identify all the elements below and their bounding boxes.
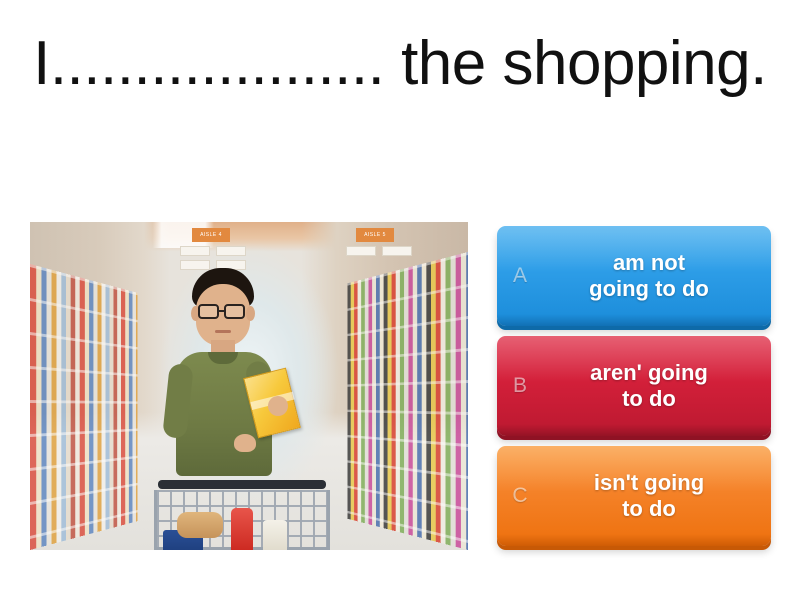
aisle-sign-icon: AISLE 4 — [192, 228, 230, 242]
shopping-cart — [154, 480, 330, 550]
cart-basket — [154, 490, 330, 550]
answer-option-b[interactable]: B aren' going to do — [497, 336, 771, 436]
option-text-a: am not going to do — [543, 250, 771, 302]
shopper-figure — [158, 268, 308, 512]
mouth — [215, 330, 231, 333]
shelf-tag — [216, 246, 246, 256]
cart-item — [231, 508, 253, 550]
cart-item — [177, 512, 223, 538]
glasses-lens-right-icon — [224, 304, 245, 319]
shelf-tag — [180, 246, 210, 256]
ear-right — [246, 306, 255, 321]
shelf-tag — [346, 246, 376, 256]
answer-option-a[interactable]: A am not going to do — [497, 226, 771, 326]
option-text-b: aren' going to do — [543, 360, 771, 412]
answer-options: A am not going to do B aren' going to do… — [497, 226, 771, 556]
supermarket-aisle-photo: AISLE 4 AISLE 5 — [30, 222, 468, 550]
shelf-tag — [382, 246, 412, 256]
cart-handle — [158, 480, 326, 489]
glasses-bridge — [219, 310, 224, 312]
glasses-lens-left-icon — [198, 304, 219, 319]
hand-left — [234, 434, 256, 452]
option-letter-c: C — [497, 484, 543, 508]
cart-item — [263, 520, 287, 550]
option-letter-b: B — [497, 374, 543, 398]
option-text-c: isn't going to do — [543, 470, 771, 522]
question-image: AISLE 4 AISLE 5 — [30, 222, 468, 550]
question-prompt: I.................... the shopping. — [0, 32, 800, 96]
option-letter-a: A — [497, 264, 543, 288]
quiz-screen: I.................... the shopping. AISL… — [0, 0, 800, 600]
hand-right — [268, 396, 288, 416]
aisle-sign-icon: AISLE 5 — [356, 228, 394, 242]
answer-option-c[interactable]: C isn't going to do — [497, 446, 771, 546]
